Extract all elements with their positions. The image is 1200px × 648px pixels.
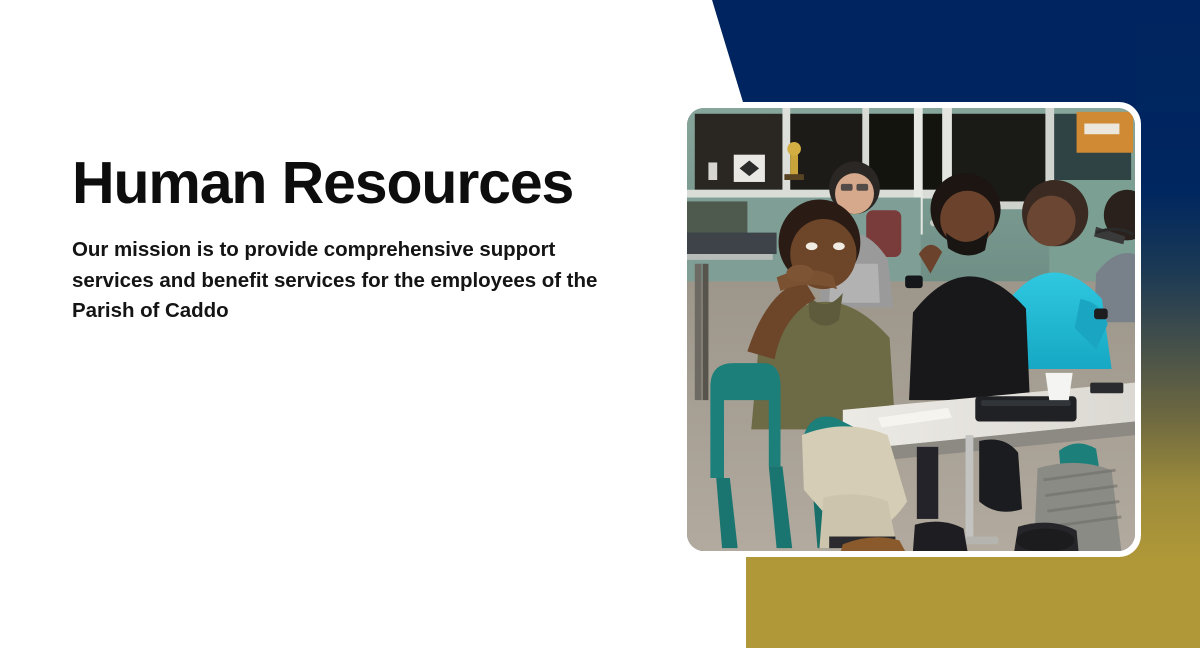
meeting-room-photo — [687, 108, 1135, 551]
gradient-right-edge — [1136, 0, 1200, 648]
white-notch-top-left — [640, 0, 746, 112]
text-block: Human Resources Our mission is to provid… — [72, 154, 632, 326]
photo-card — [681, 102, 1141, 557]
gold-bottom-band — [478, 560, 1200, 648]
gold-bottom-band-2 — [478, 560, 1200, 648]
mission-statement: Our mission is to provide comprehensive … — [72, 235, 624, 325]
page-title: Human Resources — [72, 154, 632, 212]
hr-banner: Human Resources Our mission is to provid… — [0, 0, 1200, 648]
